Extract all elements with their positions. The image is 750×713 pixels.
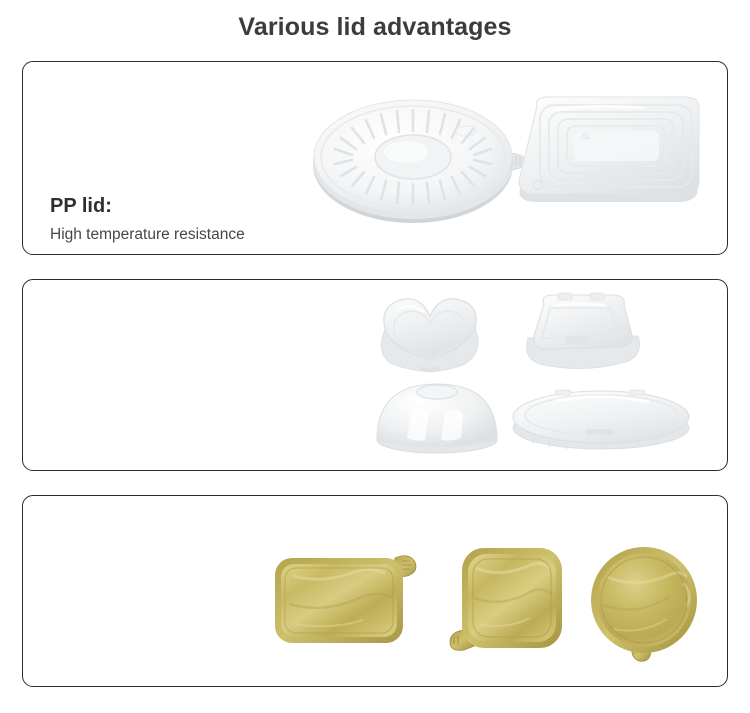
pp-lid-heading: PP lid: bbox=[50, 195, 245, 218]
pp-lid-description: High temperature resistance bbox=[50, 223, 245, 246]
lid-advantages-page: Various lid advantages PP lid: High temp… bbox=[0, 0, 750, 713]
gold-round-foil-cover-image bbox=[583, 543, 708, 665]
round-pp-lid-image bbox=[308, 89, 528, 229]
rectangular-pp-lid-image bbox=[503, 90, 718, 225]
pp-lid-text-block: PP lid: High temperature resistance bbox=[50, 195, 245, 246]
heart-pe-lid-image bbox=[358, 288, 503, 383]
dome-pe-lid-image bbox=[373, 378, 501, 456]
page-title: Various lid advantages bbox=[0, 0, 750, 54]
gold-rectangular-foil-cover-image bbox=[269, 544, 429, 654]
card-cover-film: Can be customized cover film: Custom pat… bbox=[22, 495, 728, 687]
square-pe-lid-image bbox=[518, 290, 648, 382]
card-pp-lid: PP lid: High temperature resistance bbox=[22, 61, 728, 255]
oval-flat-pe-lid-image bbox=[509, 381, 694, 453]
card-pe-lid: PE Tlid: High transparency, can do milde… bbox=[22, 279, 728, 471]
gold-square-foil-cover-image bbox=[448, 542, 573, 664]
